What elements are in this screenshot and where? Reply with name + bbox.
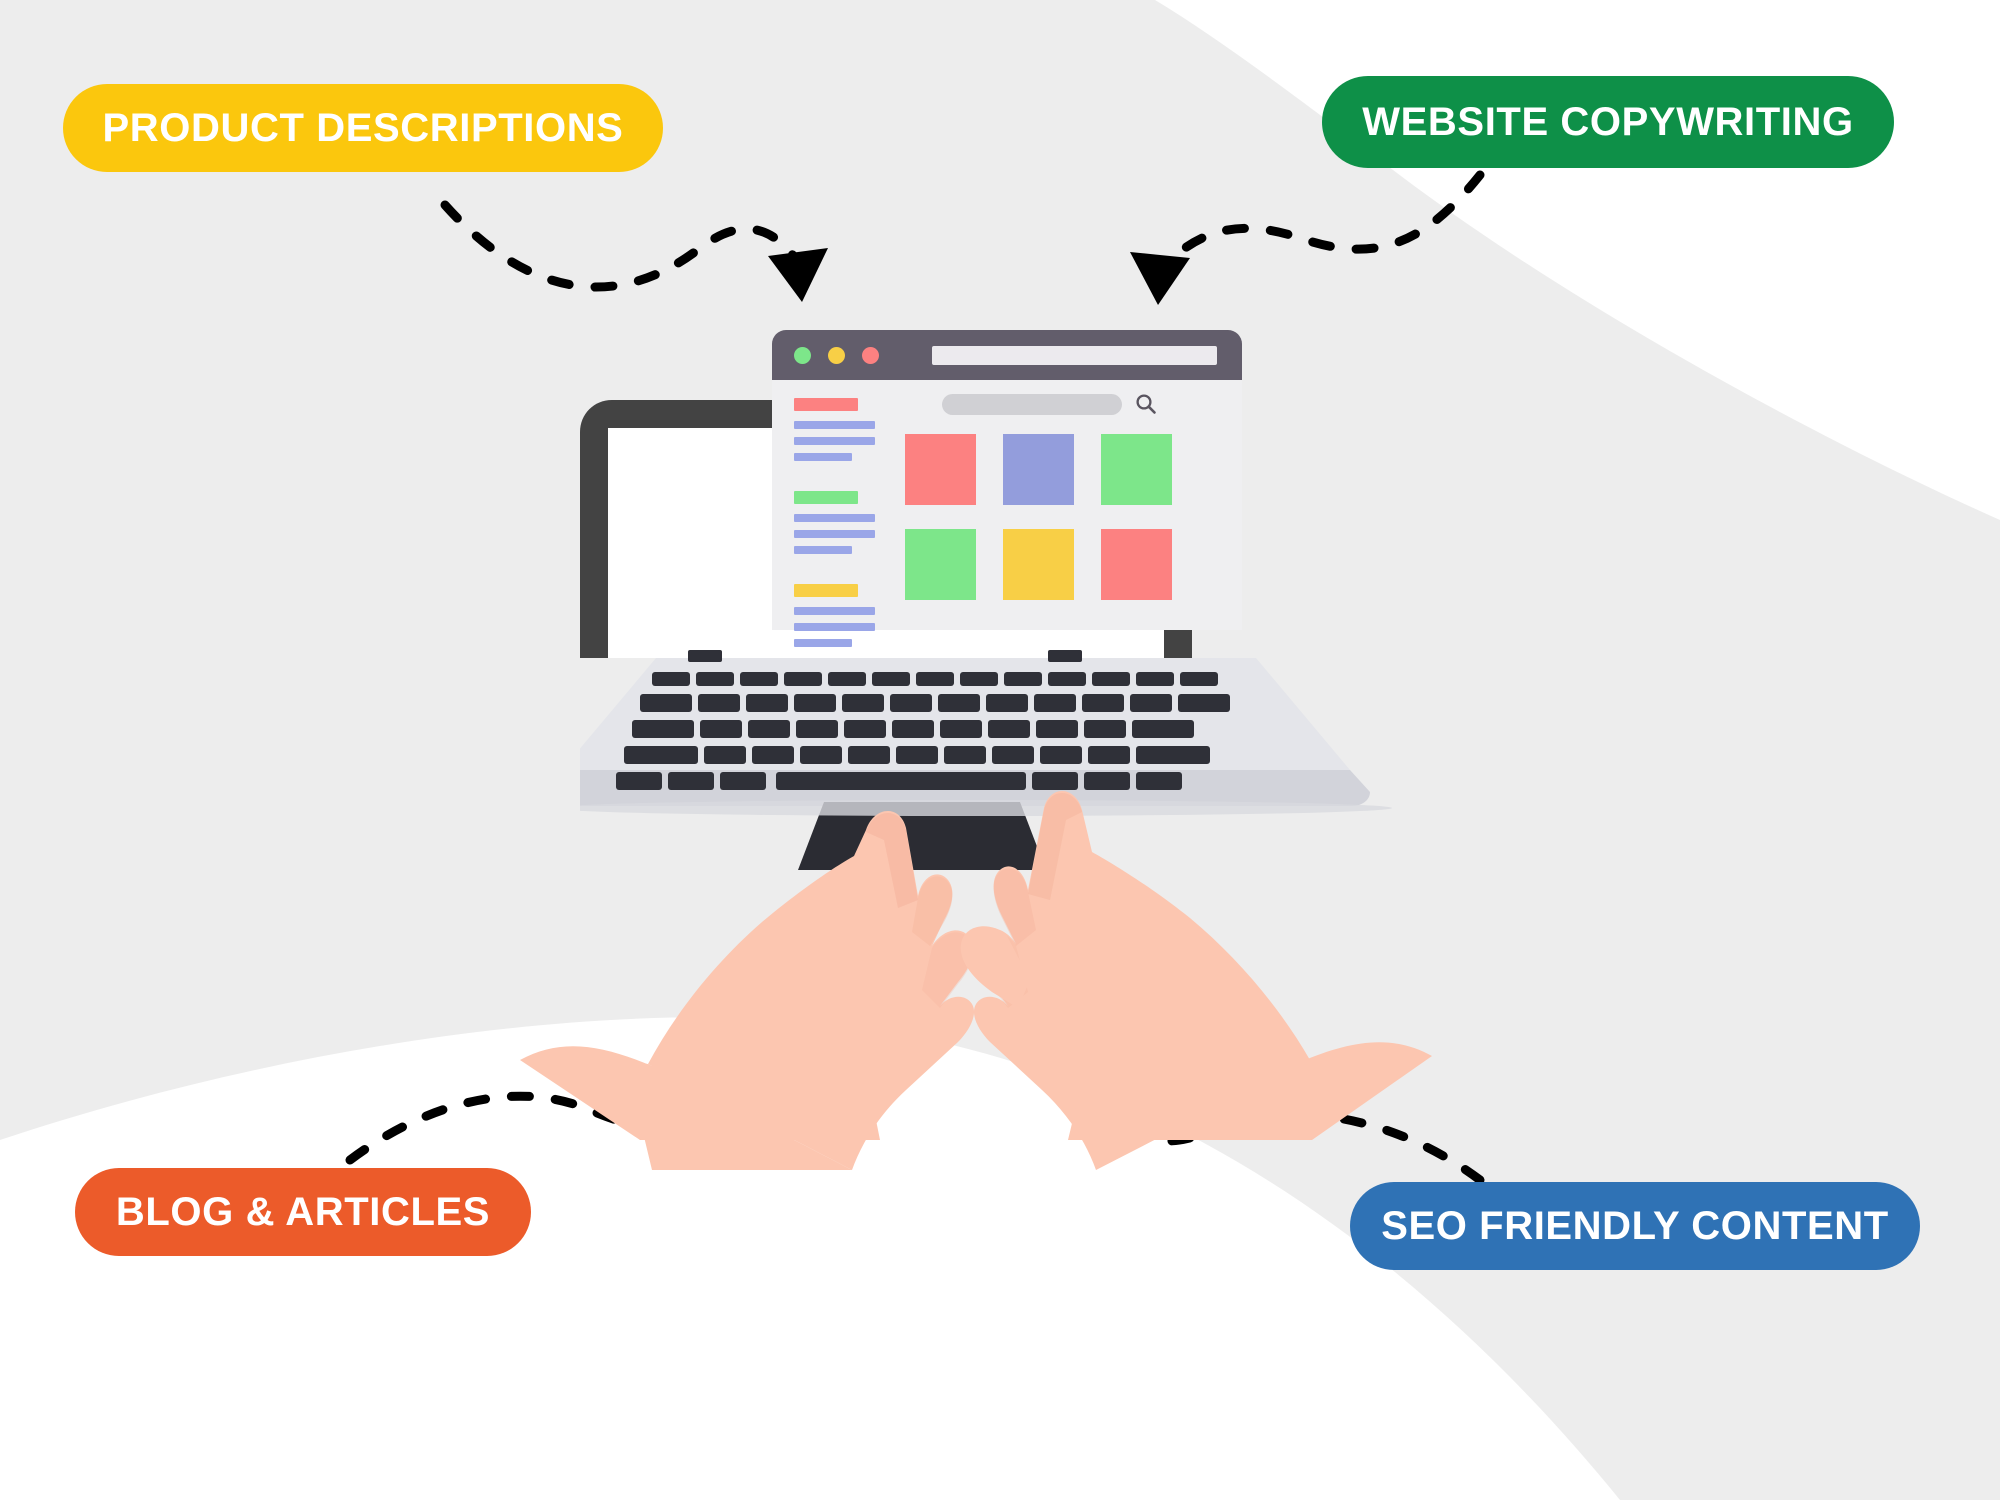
badge-seo-friendly-content[interactable]: SEO FRIENDLY CONTENT — [1350, 1182, 1920, 1270]
left-hand — [520, 811, 974, 1170]
infographic-canvas: PRODUCT DESCRIPTIONS WEBSITE COPYWRITING… — [0, 0, 2000, 1500]
badge-product-descriptions[interactable]: PRODUCT DESCRIPTIONS — [63, 84, 663, 172]
badge-website-copywriting[interactable]: WEBSITE COPYWRITING — [1322, 76, 1894, 168]
hands-typing-illustration — [0, 0, 2000, 1500]
badge-label: PRODUCT DESCRIPTIONS — [103, 106, 624, 151]
right-hand — [961, 791, 1432, 1170]
badge-blog-articles[interactable]: BLOG & ARTICLES — [75, 1168, 531, 1256]
badge-label: WEBSITE COPYWRITING — [1362, 100, 1853, 145]
badge-label: BLOG & ARTICLES — [116, 1190, 490, 1235]
badge-label: SEO FRIENDLY CONTENT — [1381, 1204, 1889, 1249]
